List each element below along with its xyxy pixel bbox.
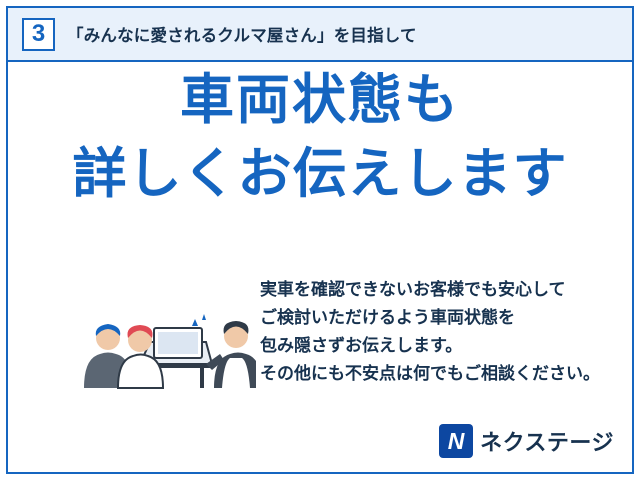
body-text-line-3: 包み隠さずお伝えします。 (260, 332, 600, 360)
body-area: 実車を確認できないお客様でも安心して ご検討いただけるよう車両状態を 包み隠さず… (8, 276, 632, 411)
headline-block: 車両状態も 詳しくお伝えします (8, 68, 632, 208)
header-bar: 3 「みんなに愛されるクルマ屋さん」を目指して (8, 8, 632, 62)
body-text-block: 実車を確認できないお客様でも安心して ご検討いただけるよう車両状態を 包み隠さず… (260, 276, 600, 388)
nexstage-logo-icon: N (439, 424, 473, 458)
brand-logo: N ネクステージ (439, 424, 614, 458)
section-number-badge: 3 (22, 18, 55, 51)
headline-line-1: 車両状態も (8, 68, 632, 134)
advertisement-canvas: 3 「みんなに愛されるクルマ屋さん」を目指して 車両状態も 詳しくお伝えします (0, 0, 640, 480)
content-frame: 3 「みんなに愛されるクルマ屋さん」を目指して 車両状態も 詳しくお伝えします (6, 6, 634, 474)
body-text-line-4: その他にも不安点は何でもご相談ください。 (260, 360, 600, 388)
illustration-svg (66, 276, 256, 396)
headline-line-2: 詳しくお伝えします (8, 142, 632, 208)
brand-name: ネクステージ (480, 425, 614, 457)
header-title: 「みんなに愛されるクルマ屋さん」を目指して (67, 22, 417, 46)
body-text-line-1: 実車を確認できないお客様でも安心して (260, 276, 600, 304)
body-text-line-2: ご検討いただけるよう車両状態を (260, 304, 600, 332)
staff-and-customers-with-laptop-illustration (66, 276, 256, 396)
